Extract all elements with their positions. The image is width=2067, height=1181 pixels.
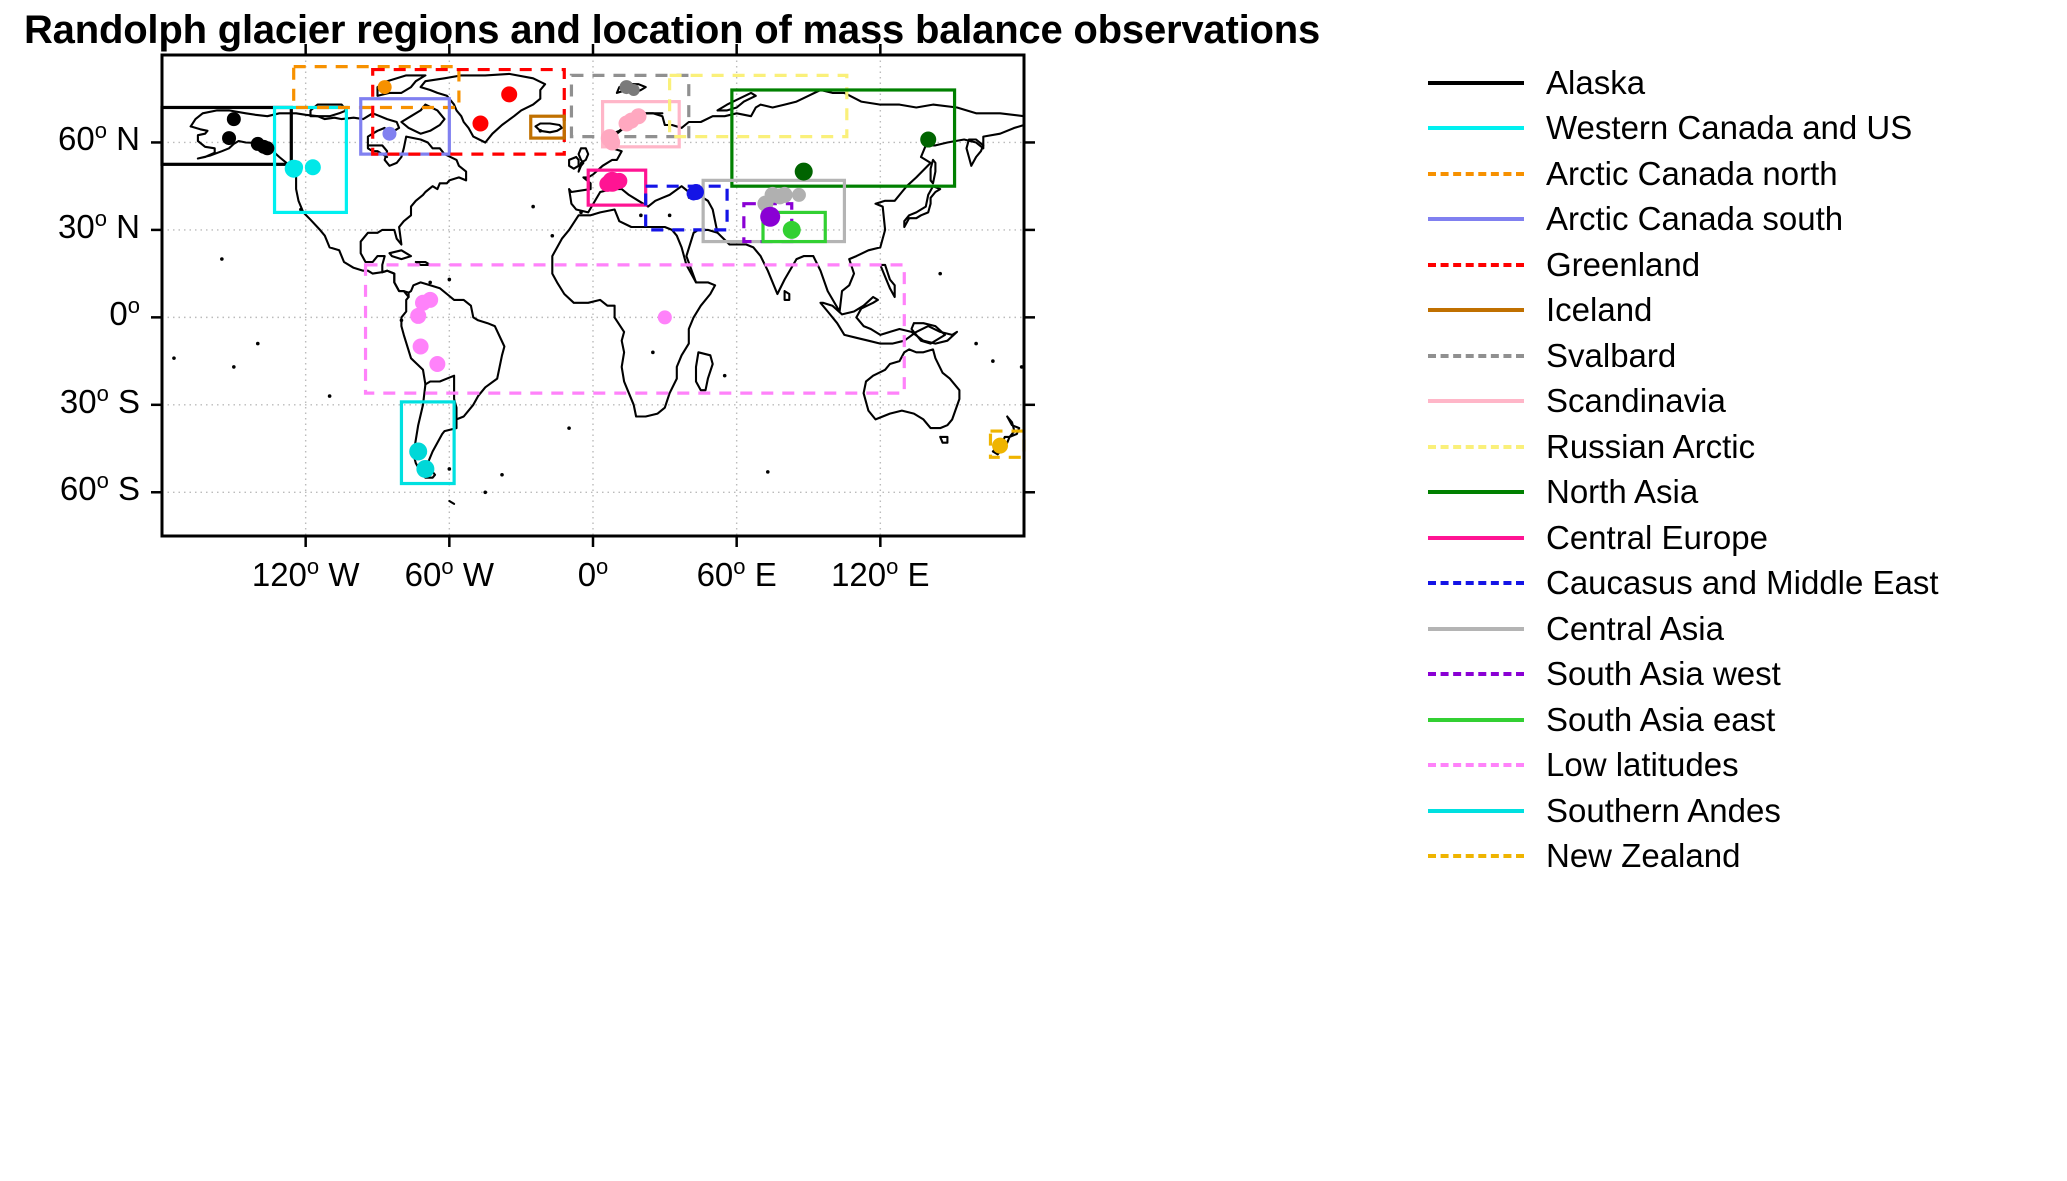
legend-swatch-line bbox=[1428, 854, 1524, 858]
legend-item[interactable]: Greenland bbox=[1428, 242, 2067, 288]
legend-item-label: Arctic Canada south bbox=[1546, 200, 1843, 238]
x-tick-label: 0o bbox=[578, 556, 609, 594]
y-tick-label: 30o S bbox=[60, 383, 140, 421]
legend-item[interactable]: South Asia east bbox=[1428, 697, 2067, 743]
legend-swatch-line bbox=[1428, 308, 1524, 312]
legend-swatch-line bbox=[1428, 672, 1524, 676]
legend-swatch-line bbox=[1428, 718, 1524, 722]
legend-item[interactable]: Arctic Canada south bbox=[1428, 197, 2067, 243]
legend-item-label: South Asia west bbox=[1546, 655, 1781, 693]
legend-item[interactable]: Alaska bbox=[1428, 60, 2067, 106]
legend-item[interactable]: South Asia west bbox=[1428, 652, 2067, 698]
legend-swatch-line bbox=[1428, 445, 1524, 449]
legend-item-label: Alaska bbox=[1546, 64, 1645, 102]
legend-swatch-line bbox=[1428, 809, 1524, 813]
legend-swatch-line bbox=[1428, 763, 1524, 767]
legend-swatch-line bbox=[1428, 217, 1524, 221]
legend: AlaskaWestern Canada and USArctic Canada… bbox=[1428, 60, 2067, 879]
legend-item[interactable]: Central Europe bbox=[1428, 515, 2067, 561]
x-tick-label: 60o W bbox=[405, 556, 494, 594]
legend-item-label: Western Canada and US bbox=[1546, 109, 1912, 147]
legend-item-label: Central Europe bbox=[1546, 519, 1768, 557]
legend-item-label: New Zealand bbox=[1546, 837, 1740, 875]
legend-item[interactable]: Western Canada and US bbox=[1428, 106, 2067, 152]
legend-item-label: Svalbard bbox=[1546, 337, 1676, 375]
legend-item[interactable]: Arctic Canada north bbox=[1428, 151, 2067, 197]
map-plot-area bbox=[162, 55, 1024, 536]
y-tick-label: 60o S bbox=[60, 470, 140, 508]
legend-item[interactable]: New Zealand bbox=[1428, 834, 2067, 880]
x-tick-label: 60o E bbox=[697, 556, 777, 594]
legend-item-label: Central Asia bbox=[1546, 610, 1724, 648]
legend-item-label: North Asia bbox=[1546, 473, 1698, 511]
legend-item[interactable]: Iceland bbox=[1428, 288, 2067, 334]
legend-item[interactable]: Caucasus and Middle East bbox=[1428, 561, 2067, 607]
y-tick-label: 60o N bbox=[58, 120, 140, 158]
legend-item[interactable]: North Asia bbox=[1428, 470, 2067, 516]
world-map-svg bbox=[162, 55, 1024, 536]
legend-item-label: Scandinavia bbox=[1546, 382, 1726, 420]
legend-swatch-line bbox=[1428, 490, 1524, 494]
legend-item[interactable]: Svalbard bbox=[1428, 333, 2067, 379]
legend-item-label: South Asia east bbox=[1546, 701, 1775, 739]
legend-swatch-line bbox=[1428, 354, 1524, 358]
x-tick-label: 120o E bbox=[831, 556, 930, 594]
x-tick-label: 120o W bbox=[252, 556, 360, 594]
legend-swatch-line bbox=[1428, 263, 1524, 267]
legend-item-label: Iceland bbox=[1546, 291, 1652, 329]
page-title: Randolph glacier regions and location of… bbox=[24, 8, 1320, 53]
legend-item[interactable]: Scandinavia bbox=[1428, 379, 2067, 425]
legend-swatch-line bbox=[1428, 581, 1524, 585]
legend-item[interactable]: Southern Andes bbox=[1428, 788, 2067, 834]
legend-swatch-line bbox=[1428, 126, 1524, 130]
legend-item[interactable]: Russian Arctic bbox=[1428, 424, 2067, 470]
legend-swatch-line bbox=[1428, 399, 1524, 403]
legend-item-label: Caucasus and Middle East bbox=[1546, 564, 1939, 602]
legend-swatch-line bbox=[1428, 172, 1524, 176]
legend-swatch-line bbox=[1428, 627, 1524, 631]
y-tick-label: 30o N bbox=[58, 208, 140, 246]
legend-swatch-line bbox=[1428, 536, 1524, 540]
legend-item-label: Low latitudes bbox=[1546, 746, 1739, 784]
legend-item-label: Arctic Canada north bbox=[1546, 155, 1838, 193]
legend-item-label: Russian Arctic bbox=[1546, 428, 1755, 466]
legend-item-label: Greenland bbox=[1546, 246, 1700, 284]
y-tick-label: 0o bbox=[109, 295, 140, 333]
legend-swatch-line bbox=[1428, 81, 1524, 85]
legend-item[interactable]: Central Asia bbox=[1428, 606, 2067, 652]
legend-item-label: Southern Andes bbox=[1546, 792, 1781, 830]
legend-item[interactable]: Low latitudes bbox=[1428, 743, 2067, 789]
